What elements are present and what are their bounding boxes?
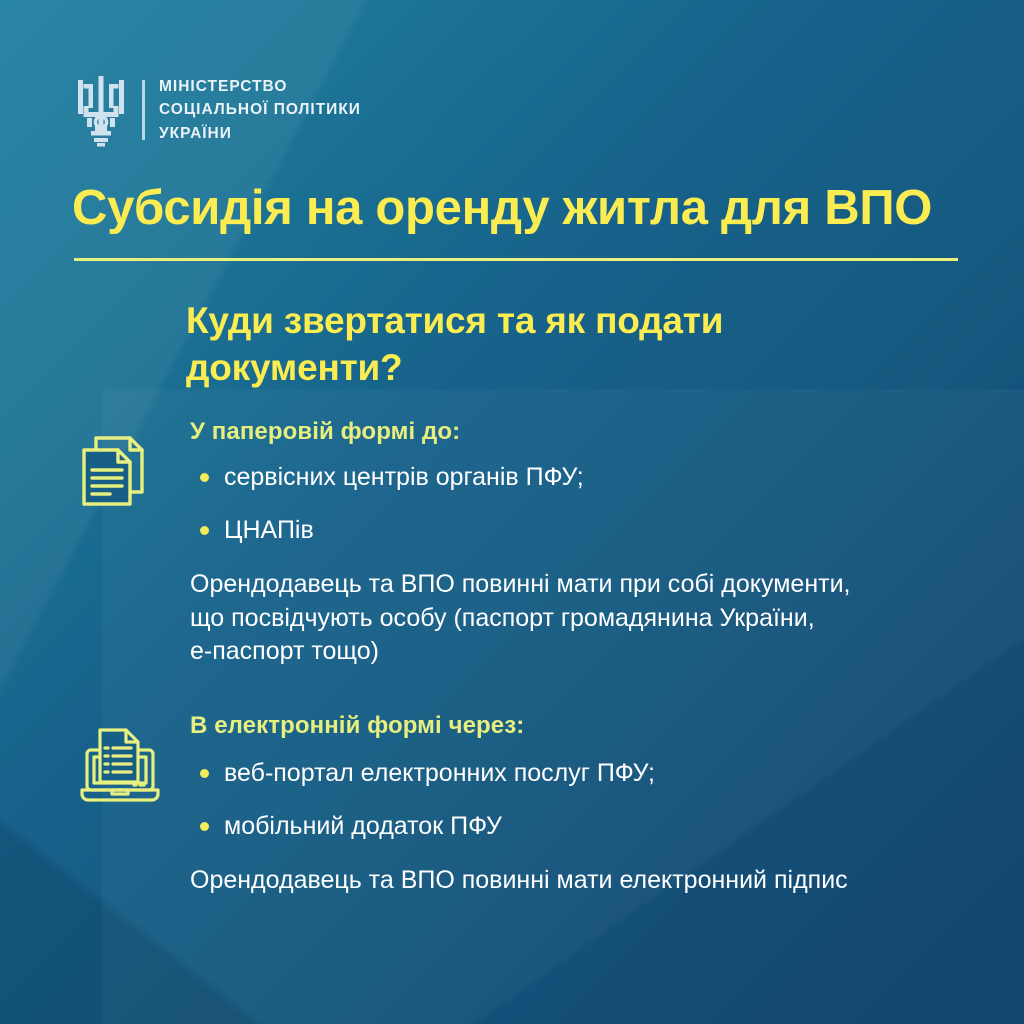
list-item: ЦНАПів xyxy=(190,515,984,546)
note-line: що посвідчують особу (паспорт громадянин… xyxy=(190,602,984,636)
documents-icon xyxy=(74,424,166,516)
logo-divider xyxy=(142,80,145,140)
ukraine-trident-emblem-icon xyxy=(74,72,128,148)
title-underline-rule xyxy=(74,258,958,261)
list-item: сервісних центрів органів ПФУ; xyxy=(190,462,984,493)
infographic-poster: МІНІСТЕРСТВО СОЦІАЛЬНОЇ ПОЛІТИКИ УКРАЇНИ… xyxy=(0,0,1024,1024)
list-item: мобільний додаток ПФУ xyxy=(190,811,984,842)
paper-form-note: Орендодавець та ВПО повинні мати при соб… xyxy=(190,568,984,669)
section-paper-form: У паперовій формі до: сервісних центрів … xyxy=(74,418,984,669)
ministry-name: МІНІСТЕРСТВО СОЦІАЛЬНОЇ ПОЛІТИКИ УКРАЇНИ xyxy=(159,76,361,143)
note-line: Орендодавець та ВПО повинні мати електро… xyxy=(190,864,984,898)
note-line: Орендодавець та ВПО повинні мати при соб… xyxy=(190,568,984,602)
page-subtitle: Куди звертатися та як подати документи? xyxy=(186,297,886,392)
electronic-form-list: веб-портал електронних послуг ПФУ; мобіл… xyxy=(190,758,984,842)
ministry-name-line-1: МІНІСТЕРСТВО xyxy=(159,76,361,97)
section-electronic-form: В електронній формі через: веб-портал ел… xyxy=(74,712,984,898)
ministry-name-line-2: СОЦІАЛЬНОЇ ПОЛІТИКИ xyxy=(159,99,361,120)
section-heading-paper: У паперовій формі до: xyxy=(190,418,984,446)
paper-form-list: сервісних центрів органів ПФУ; ЦНАПів xyxy=(190,462,984,546)
electronic-form-note: Орендодавець та ВПО повинні мати електро… xyxy=(190,864,984,898)
section-heading-electronic: В електронній формі через: xyxy=(190,712,984,740)
list-item: веб-портал електронних послуг ПФУ; xyxy=(190,758,984,789)
ministry-logo: МІНІСТЕРСТВО СОЦІАЛЬНОЇ ПОЛІТИКИ УКРАЇНИ xyxy=(74,72,361,148)
page-title: Субсидія на оренду житла для ВПО xyxy=(72,182,962,235)
ministry-name-line-3: УКРАЇНИ xyxy=(159,123,361,144)
laptop-document-icon xyxy=(74,718,166,810)
note-line: е-паспорт тощо) xyxy=(190,635,984,669)
